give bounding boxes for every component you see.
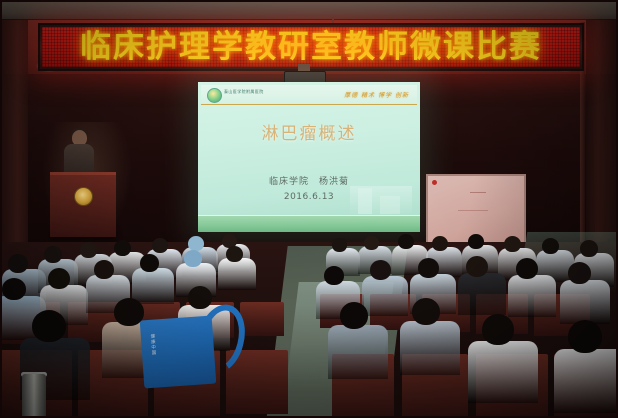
audience-member-head xyxy=(8,254,28,273)
audience-member-head xyxy=(188,236,204,251)
audience-member-torso xyxy=(218,258,256,290)
audience-member-head xyxy=(80,242,97,258)
audience-member-head xyxy=(364,236,379,250)
auditorium-seat xyxy=(240,302,284,336)
audience-member-head xyxy=(466,256,488,277)
audience-member-torso xyxy=(508,275,556,317)
audience-member-head xyxy=(398,234,414,249)
audience-member-head xyxy=(468,234,484,249)
audience-member-head xyxy=(332,238,347,252)
audience-member-head xyxy=(542,238,559,254)
audience-member-torso xyxy=(362,276,408,316)
projection-screen: 泰山医学院附属医院 厚德 精术 博学 创新 淋巴瘤概述 临床学院 杨洪菊 201… xyxy=(198,82,420,232)
wall-pillar-left xyxy=(2,20,28,250)
hospital-logo-icon xyxy=(207,88,222,103)
audience-member-head xyxy=(432,236,448,251)
tote-bag-text: 健康中国 xyxy=(149,334,158,374)
audience-member-head xyxy=(324,266,344,285)
audience-member-head xyxy=(516,258,538,279)
audience-member-torso xyxy=(132,268,174,304)
audience-member-head xyxy=(580,240,598,257)
slide-surface: 泰山医学院附属医院 厚德 精术 博学 创新 淋巴瘤概述 临床学院 杨洪菊 201… xyxy=(198,82,420,232)
led-panel: 临床护理学教研室教师微课比赛 xyxy=(42,27,580,67)
lecture-hall-photo: 临床护理学教研室教师微课比赛 泰山医学院附属医院 厚德 精术 博学 创新 淋巴瘤… xyxy=(0,0,618,418)
audience-member-torso xyxy=(328,325,388,379)
led-banner-text: 临床护理学教研室教师微课比赛 xyxy=(80,32,542,63)
slide-footer-band xyxy=(198,216,420,232)
audience-member-head xyxy=(44,246,62,263)
audience-member-head xyxy=(568,262,591,284)
audience-member-torso xyxy=(400,321,460,375)
audience-member-head xyxy=(370,260,391,280)
audience-member-head xyxy=(418,258,439,278)
audience-member-head xyxy=(482,314,514,345)
trash-can xyxy=(22,374,46,418)
audience-member-torso xyxy=(458,273,506,315)
audience-member-head xyxy=(412,298,440,325)
audience-member-head xyxy=(2,278,26,300)
slide-motto-text: 厚德 精术 博学 创新 xyxy=(344,90,409,99)
audience-member-head xyxy=(94,260,114,279)
whiteboard-magnet-icon xyxy=(432,180,437,185)
lectern xyxy=(50,172,116,237)
audience-member-head xyxy=(504,236,521,252)
audience-member-torso xyxy=(554,349,618,413)
audience-member-head xyxy=(340,302,368,329)
audience-member-head xyxy=(568,320,602,353)
whiteboard-marking xyxy=(458,210,488,211)
audience-member-head xyxy=(32,310,66,342)
whiteboard-marking xyxy=(470,192,486,193)
audience-member-torso xyxy=(468,341,538,403)
audience-member-head xyxy=(140,254,159,272)
institution-emblem-icon xyxy=(74,187,93,206)
slide-logo-text: 泰山医学院附属医院 xyxy=(224,89,264,95)
audience-member-head xyxy=(184,250,202,267)
audience-member-head xyxy=(114,240,131,256)
audience-member-head xyxy=(188,286,212,309)
blue-tote-bag: 健康中国 xyxy=(140,316,217,389)
wall-pillar-right xyxy=(586,20,616,250)
led-banner: 临床护理学教研室教师微课比赛 xyxy=(38,23,584,71)
audience-member-head xyxy=(48,268,70,289)
slide-title: 淋巴瘤概述 xyxy=(198,119,420,144)
slide-header: 泰山医学院附属医院 厚德 精术 博学 创新 xyxy=(201,85,417,105)
audience-member-head xyxy=(152,238,168,253)
audience-member-head xyxy=(226,246,243,262)
slide-building-graphic xyxy=(350,186,412,214)
audience-member-torso xyxy=(560,280,610,324)
